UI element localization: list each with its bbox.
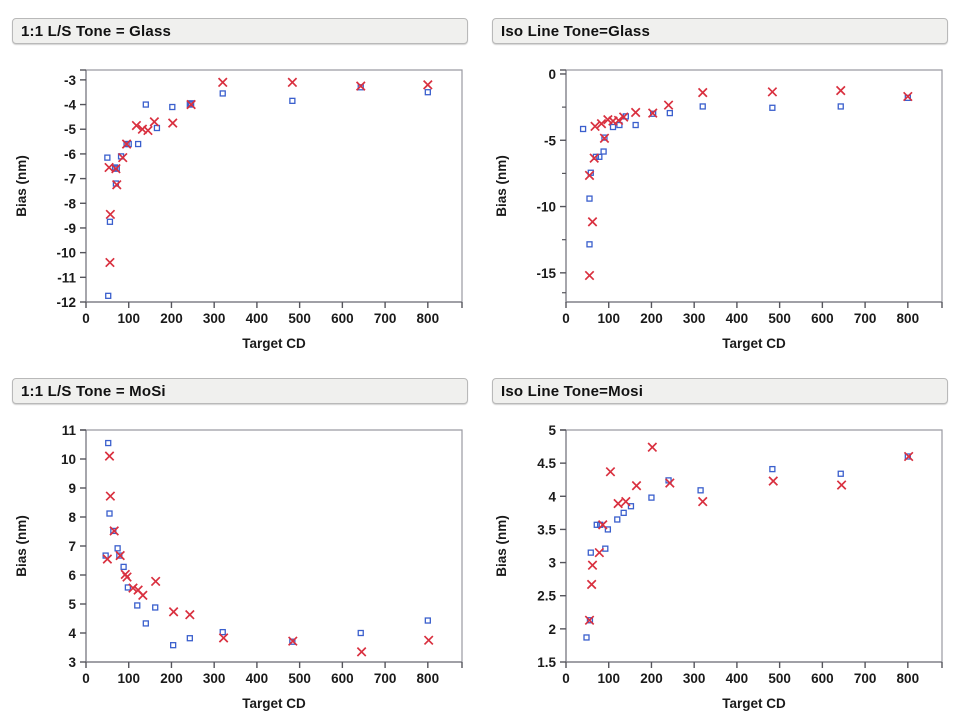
y-tick-label: 3.5 [537, 522, 556, 537]
data-point-square [584, 635, 589, 640]
y-tick-label: 2 [548, 622, 556, 637]
data-point-square [220, 630, 225, 635]
y-tick-label: -6 [64, 147, 76, 162]
panel-top-left: 1:1 L/S Tone = Glass -3-4-5-6-7-8-9-10-1… [0, 0, 480, 360]
y-axis-title: Bias (nm) [14, 515, 29, 577]
plot-axes [86, 70, 462, 302]
y-tick-label: -10 [536, 200, 556, 215]
scatter-plot-bottom-right: 1.522.533.544.55010020030040050060070080… [480, 404, 960, 720]
x-tick-label: 500 [768, 311, 791, 326]
scatter-plot-bottom-left: 345678910110100200300400500600700800Targ… [0, 404, 480, 720]
plot-frame [86, 430, 462, 662]
data-points-group [105, 78, 432, 298]
data-point-x [664, 101, 672, 109]
data-point-x [769, 477, 777, 485]
x-tick-label: 500 [288, 671, 311, 686]
data-point-square [770, 105, 775, 110]
data-point-square [838, 471, 843, 476]
data-point-square [154, 126, 159, 131]
y-tick-label: 6 [68, 568, 76, 583]
data-point-square [107, 511, 112, 516]
plot-frame [86, 70, 462, 302]
scatter-plot-top-left: -3-4-5-6-7-8-9-10-11-1201002003004005006… [0, 44, 480, 360]
data-point-square [425, 90, 430, 95]
data-point-x [585, 271, 593, 279]
data-point-x [169, 119, 177, 127]
data-point-square [425, 618, 430, 623]
y-tick-label: 2.5 [537, 589, 556, 604]
y-tick-label: -4 [64, 98, 76, 113]
x-tick-label: 800 [417, 671, 440, 686]
y-tick-label: -5 [64, 122, 76, 137]
data-point-square [621, 510, 626, 515]
data-point-x [288, 78, 296, 86]
y-tick-label: 3 [548, 556, 556, 571]
x-axis-title: Target CD [242, 336, 306, 351]
data-point-x [632, 481, 640, 489]
data-point-square [594, 522, 599, 527]
panel-title-bottom-left: 1:1 L/S Tone = MoSi [12, 378, 468, 404]
data-point-square [601, 149, 606, 154]
plot-axes [566, 70, 942, 302]
x-tick-label: 700 [854, 671, 877, 686]
x-tick-label: 200 [160, 671, 183, 686]
data-point-square [770, 467, 775, 472]
data-point-x [614, 499, 622, 507]
x-tick-label: 800 [897, 671, 920, 686]
y-tick-label: 4.5 [537, 456, 556, 471]
y-tick-label: 10 [61, 452, 76, 467]
data-point-square [106, 441, 111, 446]
y-tick-label: 4 [68, 626, 76, 641]
data-point-square [220, 91, 225, 96]
x-tick-label: 0 [82, 671, 90, 686]
data-point-x [622, 497, 630, 505]
data-point-square [611, 125, 616, 130]
data-point-square [581, 126, 586, 131]
x-tick-label: 100 [597, 671, 620, 686]
data-point-x [587, 580, 595, 588]
data-point-x [151, 577, 159, 585]
x-tick-label: 100 [117, 311, 140, 326]
data-point-x [768, 88, 776, 96]
data-point-square [290, 98, 295, 103]
y-tick-label: 8 [68, 510, 76, 525]
data-point-square [136, 142, 141, 147]
y-tick-label: -10 [56, 246, 76, 261]
data-point-square [358, 631, 363, 636]
x-tick-label: 300 [203, 671, 226, 686]
data-point-square [105, 155, 110, 160]
panel-top-right: Iso Line Tone=Glass 0-5-10-1501002003004… [480, 0, 960, 360]
data-point-x [123, 573, 131, 581]
x-tick-label: 400 [246, 671, 269, 686]
data-point-square [153, 605, 158, 610]
data-point-square [587, 196, 592, 201]
data-point-x [119, 153, 127, 161]
data-point-square [700, 104, 705, 109]
data-point-x [631, 108, 639, 116]
x-tick-label: 200 [640, 311, 663, 326]
x-tick-label: 0 [562, 671, 570, 686]
data-point-x [150, 118, 158, 126]
data-point-x [169, 608, 177, 616]
x-axis-title: Target CD [242, 696, 306, 711]
y-tick-label: 9 [68, 481, 76, 496]
data-point-x [105, 452, 113, 460]
y-tick-label: -9 [64, 221, 76, 236]
y-tick-label: 11 [62, 423, 77, 438]
scatter-plot-top-right: 0-5-10-150100200300400500600700800Target… [480, 44, 960, 360]
data-point-square [143, 621, 148, 626]
x-tick-label: 100 [117, 671, 140, 686]
data-point-x [837, 86, 845, 94]
data-point-x [103, 555, 111, 563]
x-tick-label: 700 [854, 311, 877, 326]
data-point-x [219, 78, 227, 86]
panel-title-top-left: 1:1 L/S Tone = Glass [12, 18, 468, 44]
x-tick-label: 400 [726, 671, 749, 686]
data-point-x [144, 126, 152, 134]
x-tick-label: 700 [374, 311, 397, 326]
y-tick-label: -5 [544, 133, 556, 148]
x-tick-label: 500 [288, 311, 311, 326]
panel-bottom-right: Iso Line Tone=Mosi 1.522.533.544.5501002… [480, 360, 960, 720]
x-tick-label: 600 [811, 311, 834, 326]
x-tick-label: 300 [203, 311, 226, 326]
y-tick-label: 5 [548, 423, 556, 438]
plot-axes [566, 430, 942, 662]
x-tick-label: 600 [811, 671, 834, 686]
data-point-x [837, 481, 845, 489]
data-point-x [424, 81, 432, 89]
y-tick-label: -8 [64, 196, 76, 211]
data-point-square [667, 111, 672, 116]
data-point-x [424, 636, 432, 644]
data-point-x [186, 611, 194, 619]
data-point-square [106, 293, 111, 298]
y-tick-label: -12 [56, 295, 76, 310]
y-tick-label: 4 [548, 489, 556, 504]
x-tick-label: 400 [726, 311, 749, 326]
y-tick-label: -3 [64, 73, 76, 88]
x-axis-title: Target CD [722, 696, 786, 711]
panel-title-bottom-right: Iso Line Tone=Mosi [492, 378, 948, 404]
y-tick-label: -15 [536, 266, 556, 281]
data-point-square [121, 564, 126, 569]
panel-bottom-left: 1:1 L/S Tone = MoSi 34567891011010020030… [0, 360, 480, 720]
y-axis-title: Bias (nm) [494, 515, 509, 577]
data-point-square [838, 104, 843, 109]
x-tick-label: 600 [331, 311, 354, 326]
x-tick-label: 200 [160, 311, 183, 326]
x-axis-title: Target CD [722, 336, 786, 351]
x-tick-label: 600 [331, 671, 354, 686]
data-point-x [106, 210, 114, 218]
data-point-square [135, 603, 140, 608]
x-tick-label: 500 [768, 671, 791, 686]
x-tick-label: 700 [374, 671, 397, 686]
data-point-square [698, 488, 703, 493]
x-tick-label: 0 [82, 311, 90, 326]
data-point-x [106, 492, 114, 500]
panel-grid: 1:1 L/S Tone = Glass -3-4-5-6-7-8-9-10-1… [0, 0, 960, 720]
y-axis-title: Bias (nm) [14, 155, 29, 217]
data-point-square [588, 550, 593, 555]
data-point-x [648, 443, 656, 451]
y-tick-label: 5 [68, 597, 76, 612]
panel-title-top-right: Iso Line Tone=Glass [492, 18, 948, 44]
data-point-x [106, 258, 114, 266]
data-point-square [171, 643, 176, 648]
plot-axes [86, 430, 462, 662]
data-points-group [581, 86, 912, 279]
x-tick-label: 300 [683, 311, 706, 326]
x-tick-label: 400 [246, 311, 269, 326]
y-tick-label: 0 [548, 67, 556, 82]
y-tick-label: -11 [57, 270, 76, 285]
data-point-square [615, 517, 620, 522]
data-point-x [588, 218, 596, 226]
data-point-x [357, 648, 365, 656]
data-point-x [699, 497, 707, 505]
plot-frame [566, 430, 942, 662]
data-point-square [633, 123, 638, 128]
data-point-square [187, 636, 192, 641]
plot-frame [566, 70, 942, 302]
data-point-x [595, 548, 603, 556]
x-tick-label: 800 [897, 311, 920, 326]
y-tick-label: -7 [64, 172, 76, 187]
y-axis-title: Bias (nm) [494, 155, 509, 217]
data-point-square [143, 102, 148, 107]
data-point-square [115, 546, 120, 551]
y-tick-label: 1.5 [537, 655, 556, 670]
y-tick-label: 7 [68, 539, 76, 554]
data-point-square [170, 105, 175, 110]
data-point-x [606, 468, 614, 476]
data-point-square [649, 495, 654, 500]
x-tick-label: 200 [640, 671, 663, 686]
x-tick-label: 800 [417, 311, 440, 326]
data-points-group [103, 441, 433, 657]
x-tick-label: 300 [683, 671, 706, 686]
data-point-x [588, 561, 596, 569]
data-point-x [139, 591, 147, 599]
data-point-x [699, 88, 707, 96]
data-point-square [107, 219, 112, 224]
x-tick-label: 0 [562, 311, 570, 326]
x-tick-label: 100 [597, 311, 620, 326]
data-points-group [584, 443, 913, 640]
data-point-square [587, 242, 592, 247]
y-tick-label: 3 [68, 655, 76, 670]
